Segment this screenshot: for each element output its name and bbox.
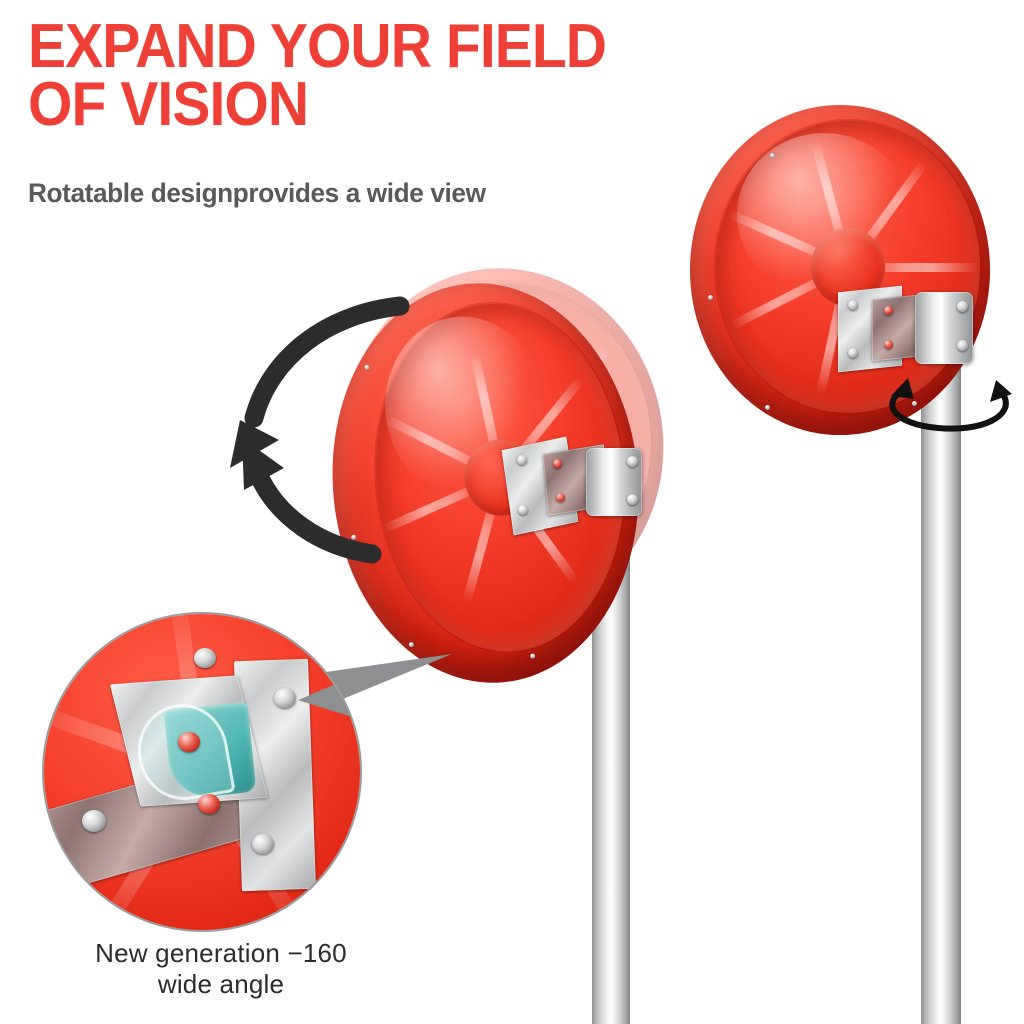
detail-bolt — [82, 810, 106, 832]
detail-bolt — [178, 732, 200, 752]
bracket-bolt — [848, 300, 858, 310]
clamp-bolt — [957, 301, 968, 312]
clamp-bolt — [627, 456, 638, 467]
detail-bolt — [194, 648, 216, 668]
page-title: EXPAND YOUR FIELD OF VISION — [28, 18, 606, 135]
bracket-bolt — [518, 505, 528, 515]
bracket-bolt — [556, 493, 565, 502]
detail-bolt — [198, 794, 220, 814]
rim-screw — [770, 153, 775, 158]
clamp-bolt — [627, 494, 638, 505]
bracket-bolt — [848, 348, 858, 358]
bracket-bolt — [517, 455, 527, 465]
rim-screw — [708, 295, 713, 300]
bracket-bolt — [884, 306, 893, 315]
product-marketing-image: EXPAND YOUR FIELD OF VISION Rotatable de… — [0, 0, 1024, 1024]
detail-magnifier-circle — [42, 612, 362, 932]
bracket-bolt — [553, 459, 562, 468]
clamp-bolt — [957, 340, 968, 351]
tilt-rotation-double-arrow — [222, 292, 442, 560]
detail-caption: New generation −160 wide angle — [56, 938, 386, 999]
pole-rotation-double-arrow — [878, 372, 1022, 436]
page-subtitle: Rotatable designprovides a wide view — [28, 178, 486, 209]
detail-circle-content — [42, 612, 362, 932]
detail-bolt — [252, 834, 274, 854]
bracket-bolt — [884, 340, 893, 349]
detail-bolt — [274, 688, 296, 708]
rim-screw — [765, 405, 770, 410]
